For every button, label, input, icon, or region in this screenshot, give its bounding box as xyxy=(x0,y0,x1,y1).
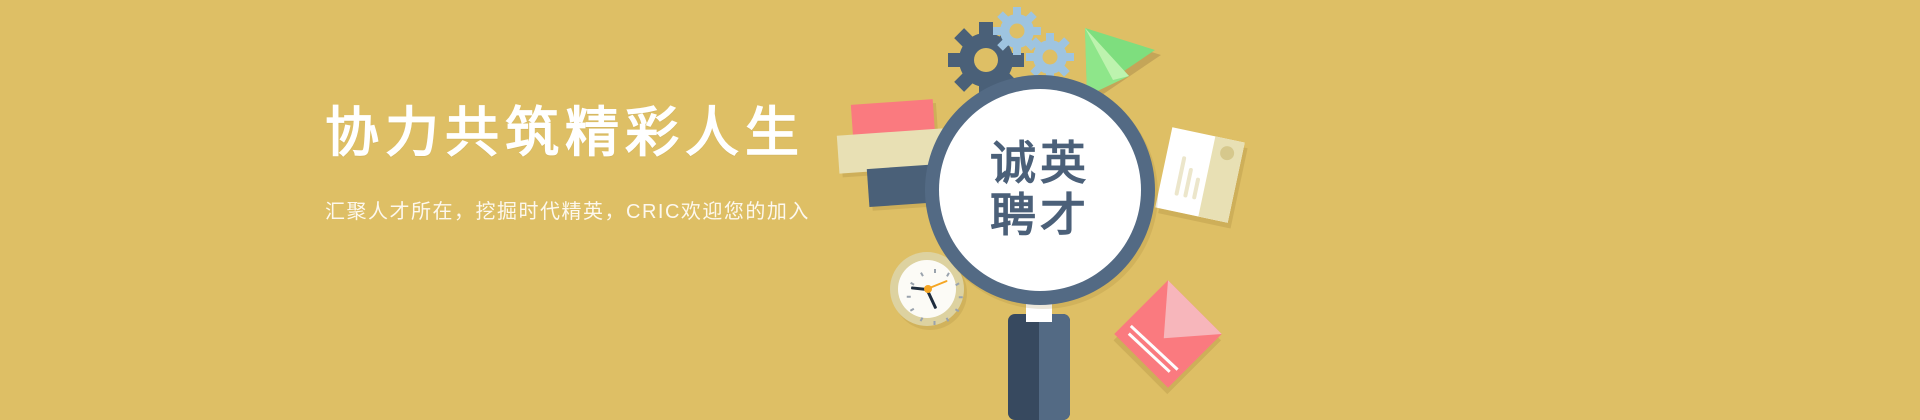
magnifier-ring: 诚英 聘才 xyxy=(925,75,1155,305)
clock-center-pin xyxy=(924,285,932,293)
envelope-icon xyxy=(1114,280,1221,387)
magnifier-text: 诚英 聘才 xyxy=(939,89,1141,291)
recruitment-banner: 协力共筑精彩人生 汇聚人才所在，挖掘时代精英，CRIC欢迎您的加入 xyxy=(0,0,1920,420)
magnifier-grip-highlight xyxy=(1039,314,1070,420)
notebook-icon xyxy=(1155,127,1244,223)
magnifier-text-line-1: 诚英 xyxy=(990,139,1090,189)
banner-illustration: 诚英 聘才 xyxy=(830,0,1590,420)
gear-small-right-icon xyxy=(1026,33,1074,81)
magnifier-text-line-2: 聘才 xyxy=(990,191,1090,241)
magnifier-lens: 诚英 聘才 xyxy=(939,89,1141,291)
